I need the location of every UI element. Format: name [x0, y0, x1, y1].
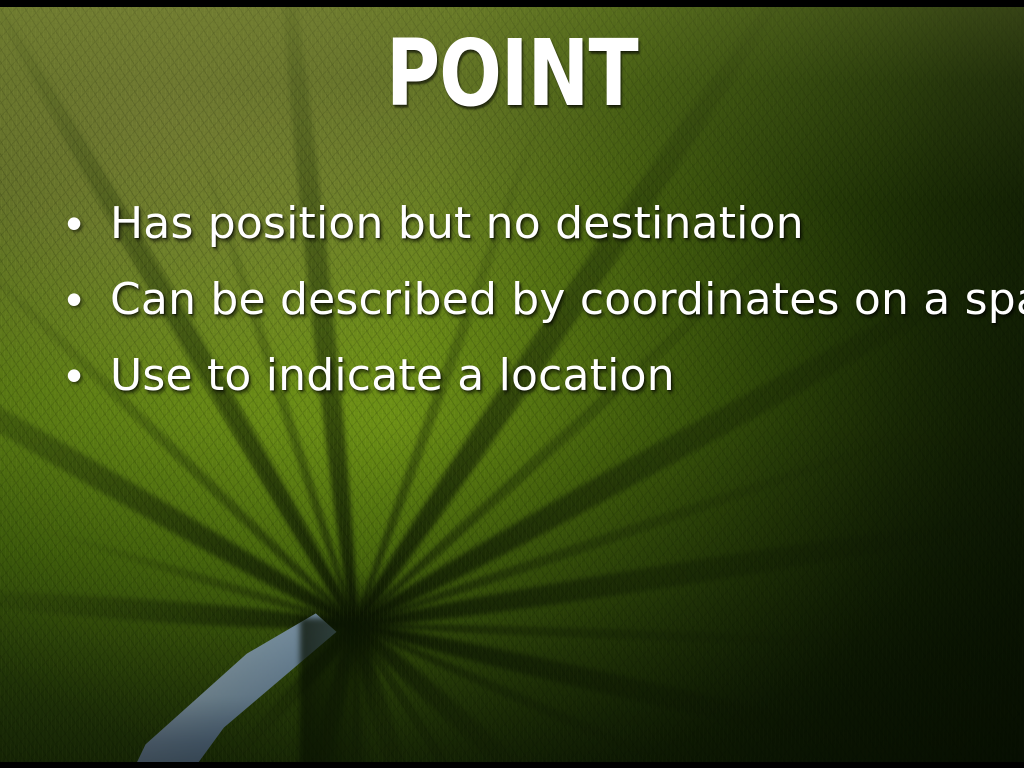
bullet-text: Can be described by coordinates on a spa…: [110, 274, 1024, 326]
bullet-list: • Has position but no destination • Can …: [58, 198, 1008, 426]
slide-title: POINT: [102, 26, 921, 122]
slide-canvas: POINT • Has position but no destination …: [0, 0, 1024, 768]
bullet-marker-icon: •: [58, 350, 110, 400]
letterbox-bar-bottom: [0, 762, 1024, 768]
bullet-marker-icon: •: [58, 274, 110, 324]
letterbox-bar-top: [0, 0, 1024, 7]
list-item: • Use to indicate a location: [58, 350, 1008, 426]
bullet-text: Has position but no destination: [110, 198, 804, 250]
list-item: • Can be described by coordinates on a s…: [58, 274, 1008, 350]
bullet-text: Use to indicate a location: [110, 350, 675, 402]
list-item: • Has position but no destination: [58, 198, 1008, 274]
bullet-marker-icon: •: [58, 198, 110, 248]
